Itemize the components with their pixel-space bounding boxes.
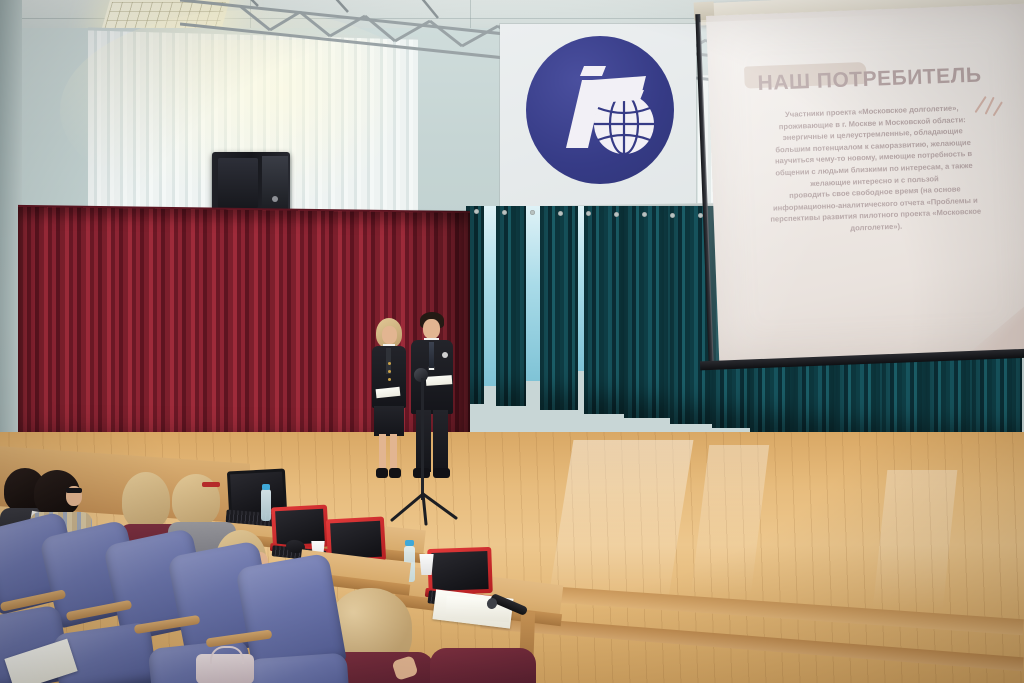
presenter-man-face	[423, 319, 440, 339]
presenter-woman-face	[382, 326, 397, 344]
projection-screen: НАШ ПОТРЕБИТЕЛЬ Участники проекта «Моско…	[706, 4, 1024, 364]
presenter-man-shoe	[433, 468, 450, 478]
presentation-hall-photo: НАШ ПОТРЕБИТЕЛЬ Участники проекта «Моско…	[0, 0, 1024, 683]
bottle-cap	[262, 484, 270, 490]
jacket-button	[388, 362, 391, 365]
eyeglasses-icon	[202, 482, 220, 487]
presenter-man-necktie	[429, 342, 434, 368]
presenter-woman-leg	[390, 434, 397, 472]
laptop-red-3-screen	[431, 551, 488, 591]
speaker-grille	[218, 158, 258, 208]
handbag-handle	[210, 646, 244, 664]
jacket-button	[388, 370, 391, 373]
presenter-man	[408, 312, 460, 502]
speaker-side-panel	[262, 156, 288, 212]
slide-body: Участники проекта «Московское долголетие…	[728, 100, 1021, 238]
presenter-woman-shoe	[376, 468, 388, 478]
mic-stand-pole	[421, 378, 424, 500]
jacket-button	[388, 378, 391, 381]
mic-stand-tripod	[386, 492, 462, 526]
audience-member	[430, 648, 536, 683]
presenter-woman	[366, 318, 412, 498]
bottle-cap	[405, 540, 414, 546]
speaker-knob	[272, 196, 278, 202]
presenter-man-papers	[426, 375, 453, 386]
water-bottle	[261, 489, 271, 521]
presenter-man-leg	[433, 410, 448, 472]
floor-reflection	[873, 470, 958, 610]
lapel-pin-icon	[442, 352, 448, 358]
presenter-woman-shoe	[389, 468, 401, 478]
presenter-woman-skirt	[374, 406, 404, 436]
presenter-woman-leg	[379, 434, 386, 472]
ito-logo-icon	[526, 36, 674, 184]
audience-hair	[122, 472, 170, 530]
eyeglasses-icon	[66, 488, 82, 493]
